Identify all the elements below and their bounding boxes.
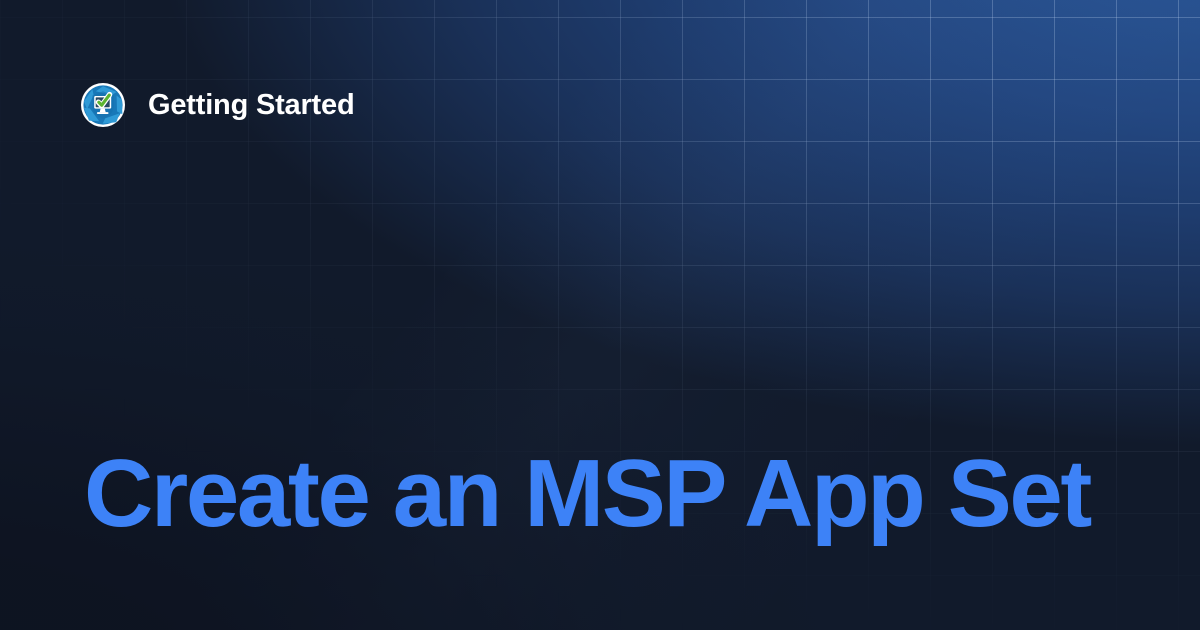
shield-monitor-check-icon <box>80 82 126 128</box>
brand-label: Getting Started <box>148 91 354 120</box>
page-title: Create an MSP App Set <box>84 446 1124 542</box>
brand-header: Getting Started <box>80 82 354 128</box>
og-card: Getting Started Create an MSP App Set <box>0 0 1200 630</box>
